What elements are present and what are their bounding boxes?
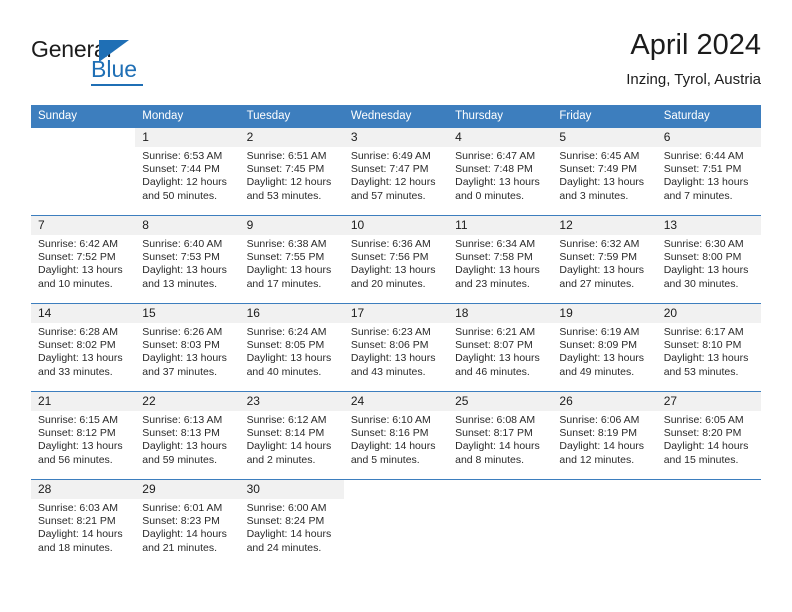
day-number: 12 (552, 216, 656, 235)
day-cell-content (31, 128, 135, 215)
sunrise-text: Sunrise: 6:42 AM (38, 238, 129, 251)
day-details: Sunrise: 6:47 AM Sunset: 7:48 PM Dayligh… (448, 147, 552, 203)
sunset-text: Sunset: 7:52 PM (38, 251, 129, 264)
day-number (344, 480, 448, 499)
daylight-text-line2: and 53 minutes. (664, 366, 755, 379)
calendar-day-cell[interactable]: 6 Sunrise: 6:44 AM Sunset: 7:51 PM Dayli… (657, 128, 761, 216)
sunset-text: Sunset: 8:24 PM (247, 515, 338, 528)
day-number: 8 (135, 216, 239, 235)
day-number: 26 (552, 392, 656, 411)
day-cell-content: 20 Sunrise: 6:17 AM Sunset: 8:10 PM Dayl… (657, 304, 761, 391)
daylight-text-line2: and 5 minutes. (351, 454, 442, 467)
day-number: 22 (135, 392, 239, 411)
daylight-text-line1: Daylight: 13 hours (247, 264, 338, 277)
sunrise-text: Sunrise: 6:00 AM (247, 502, 338, 515)
calendar-day-cell[interactable]: 1 Sunrise: 6:53 AM Sunset: 7:44 PM Dayli… (135, 128, 239, 216)
sunrise-text: Sunrise: 6:51 AM (247, 150, 338, 163)
sunrise-text: Sunrise: 6:03 AM (38, 502, 129, 515)
day-number: 6 (657, 128, 761, 147)
day-cell-content: 8 Sunrise: 6:40 AM Sunset: 7:53 PM Dayli… (135, 216, 239, 303)
sunset-text: Sunset: 7:55 PM (247, 251, 338, 264)
daylight-text-line2: and 0 minutes. (455, 190, 546, 203)
day-cell-content: 12 Sunrise: 6:32 AM Sunset: 7:59 PM Dayl… (552, 216, 656, 303)
day-details: Sunrise: 6:03 AM Sunset: 8:21 PM Dayligh… (31, 499, 135, 555)
daylight-text-line2: and 15 minutes. (664, 454, 755, 467)
daylight-text-line2: and 59 minutes. (142, 454, 233, 467)
calendar-day-cell[interactable] (344, 480, 448, 575)
day-cell-content: 30 Sunrise: 6:00 AM Sunset: 8:24 PM Dayl… (240, 480, 344, 575)
day-number: 28 (31, 480, 135, 499)
day-cell-content: 7 Sunrise: 6:42 AM Sunset: 7:52 PM Dayli… (31, 216, 135, 303)
sunrise-text: Sunrise: 6:01 AM (142, 502, 233, 515)
daylight-text-line2: and 23 minutes. (455, 278, 546, 291)
calendar-day-cell[interactable]: 20 Sunrise: 6:17 AM Sunset: 8:10 PM Dayl… (657, 304, 761, 392)
daylight-text-line1: Daylight: 14 hours (247, 528, 338, 541)
day-cell-content (552, 480, 656, 575)
daylight-text-line1: Daylight: 13 hours (664, 264, 755, 277)
sunrise-text: Sunrise: 6:36 AM (351, 238, 442, 251)
weekday-header-wednesday: Wednesday (344, 105, 448, 128)
day-cell-content: 13 Sunrise: 6:30 AM Sunset: 8:00 PM Dayl… (657, 216, 761, 303)
weekday-header-sunday: Sunday (31, 105, 135, 128)
day-number: 30 (240, 480, 344, 499)
sunrise-text: Sunrise: 6:13 AM (142, 414, 233, 427)
daylight-text-line2: and 10 minutes. (38, 278, 129, 291)
sunset-text: Sunset: 8:05 PM (247, 339, 338, 352)
calendar-day-cell[interactable]: 14 Sunrise: 6:28 AM Sunset: 8:02 PM Dayl… (31, 304, 135, 392)
day-cell-content: 2 Sunrise: 6:51 AM Sunset: 7:45 PM Dayli… (240, 128, 344, 215)
daylight-text-line2: and 56 minutes. (38, 454, 129, 467)
calendar-day-cell[interactable] (31, 128, 135, 216)
calendar-day-cell[interactable]: 15 Sunrise: 6:26 AM Sunset: 8:03 PM Dayl… (135, 304, 239, 392)
daylight-text-line1: Daylight: 14 hours (559, 440, 650, 453)
sunrise-text: Sunrise: 6:06 AM (559, 414, 650, 427)
daylight-text-line2: and 33 minutes. (38, 366, 129, 379)
sunrise-text: Sunrise: 6:21 AM (455, 326, 546, 339)
day-cell-content: 22 Sunrise: 6:13 AM Sunset: 8:13 PM Dayl… (135, 392, 239, 479)
daylight-text-line2: and 8 minutes. (455, 454, 546, 467)
day-cell-content: 23 Sunrise: 6:12 AM Sunset: 8:14 PM Dayl… (240, 392, 344, 479)
calendar-day-cell[interactable]: 28 Sunrise: 6:03 AM Sunset: 8:21 PM Dayl… (31, 480, 135, 575)
daylight-text-line1: Daylight: 13 hours (559, 176, 650, 189)
daylight-text-line1: Daylight: 13 hours (351, 352, 442, 365)
calendar-day-cell[interactable]: 25 Sunrise: 6:08 AM Sunset: 8:17 PM Dayl… (448, 392, 552, 480)
day-details: Sunrise: 6:06 AM Sunset: 8:19 PM Dayligh… (552, 411, 656, 467)
calendar-day-cell[interactable]: 27 Sunrise: 6:05 AM Sunset: 8:20 PM Dayl… (657, 392, 761, 480)
daylight-text-line1: Daylight: 12 hours (142, 176, 233, 189)
daylight-text-line2: and 2 minutes. (247, 454, 338, 467)
calendar-day-cell[interactable]: 29 Sunrise: 6:01 AM Sunset: 8:23 PM Dayl… (135, 480, 239, 575)
day-details: Sunrise: 6:15 AM Sunset: 8:12 PM Dayligh… (31, 411, 135, 467)
sunrise-text: Sunrise: 6:49 AM (351, 150, 442, 163)
daylight-text-line2: and 43 minutes. (351, 366, 442, 379)
daylight-text-line2: and 27 minutes. (559, 278, 650, 291)
day-details: Sunrise: 6:30 AM Sunset: 8:00 PM Dayligh… (657, 235, 761, 291)
sunrise-text: Sunrise: 6:32 AM (559, 238, 650, 251)
calendar-grid: Sunday Monday Tuesday Wednesday Thursday… (31, 105, 761, 575)
sunset-text: Sunset: 7:44 PM (142, 163, 233, 176)
daylight-text-line2: and 24 minutes. (247, 542, 338, 555)
sunrise-text: Sunrise: 6:45 AM (559, 150, 650, 163)
page-header: General Blue April 2024 Inzing, Tyrol, A… (31, 28, 761, 100)
calendar-day-cell[interactable]: 17 Sunrise: 6:23 AM Sunset: 8:06 PM Dayl… (344, 304, 448, 392)
sunset-text: Sunset: 8:20 PM (664, 427, 755, 440)
day-number: 18 (448, 304, 552, 323)
sunset-text: Sunset: 8:07 PM (455, 339, 546, 352)
calendar-page: General Blue April 2024 Inzing, Tyrol, A… (0, 0, 792, 612)
sunrise-text: Sunrise: 6:10 AM (351, 414, 442, 427)
day-details: Sunrise: 6:10 AM Sunset: 8:16 PM Dayligh… (344, 411, 448, 467)
day-details (657, 499, 761, 502)
sunrise-text: Sunrise: 6:38 AM (247, 238, 338, 251)
daylight-text-line2: and 12 minutes. (559, 454, 650, 467)
day-number: 27 (657, 392, 761, 411)
day-cell-content: 14 Sunrise: 6:28 AM Sunset: 8:02 PM Dayl… (31, 304, 135, 391)
day-cell-content: 18 Sunrise: 6:21 AM Sunset: 8:07 PM Dayl… (448, 304, 552, 391)
sunrise-text: Sunrise: 6:08 AM (455, 414, 546, 427)
day-details: Sunrise: 6:36 AM Sunset: 7:56 PM Dayligh… (344, 235, 448, 291)
calendar-day-cell[interactable]: 18 Sunrise: 6:21 AM Sunset: 8:07 PM Dayl… (448, 304, 552, 392)
daylight-text-line1: Daylight: 14 hours (455, 440, 546, 453)
day-number: 7 (31, 216, 135, 235)
day-number: 21 (31, 392, 135, 411)
calendar-day-cell[interactable]: 5 Sunrise: 6:45 AM Sunset: 7:49 PM Dayli… (552, 128, 656, 216)
day-details: Sunrise: 6:08 AM Sunset: 8:17 PM Dayligh… (448, 411, 552, 467)
day-details: Sunrise: 6:28 AM Sunset: 8:02 PM Dayligh… (31, 323, 135, 379)
day-cell-content: 17 Sunrise: 6:23 AM Sunset: 8:06 PM Dayl… (344, 304, 448, 391)
weekday-header-friday: Friday (552, 105, 656, 128)
day-cell-content: 24 Sunrise: 6:10 AM Sunset: 8:16 PM Dayl… (344, 392, 448, 479)
day-number: 29 (135, 480, 239, 499)
calendar-day-cell[interactable]: 3 Sunrise: 6:49 AM Sunset: 7:47 PM Dayli… (344, 128, 448, 216)
day-details: Sunrise: 6:42 AM Sunset: 7:52 PM Dayligh… (31, 235, 135, 291)
day-details: Sunrise: 6:23 AM Sunset: 8:06 PM Dayligh… (344, 323, 448, 379)
daylight-text-line1: Daylight: 13 hours (559, 264, 650, 277)
day-details: Sunrise: 6:38 AM Sunset: 7:55 PM Dayligh… (240, 235, 344, 291)
day-number (448, 480, 552, 499)
day-details: Sunrise: 6:19 AM Sunset: 8:09 PM Dayligh… (552, 323, 656, 379)
day-details: Sunrise: 6:12 AM Sunset: 8:14 PM Dayligh… (240, 411, 344, 467)
calendar-day-cell[interactable]: 19 Sunrise: 6:19 AM Sunset: 8:09 PM Dayl… (552, 304, 656, 392)
day-number (31, 128, 135, 147)
calendar-day-cell[interactable]: 7 Sunrise: 6:42 AM Sunset: 7:52 PM Dayli… (31, 216, 135, 304)
sunset-text: Sunset: 8:21 PM (38, 515, 129, 528)
day-cell-content: 3 Sunrise: 6:49 AM Sunset: 7:47 PM Dayli… (344, 128, 448, 215)
day-details: Sunrise: 6:53 AM Sunset: 7:44 PM Dayligh… (135, 147, 239, 203)
page-subtitle: Inzing, Tyrol, Austria (626, 69, 761, 91)
sunrise-text: Sunrise: 6:15 AM (38, 414, 129, 427)
day-number: 16 (240, 304, 344, 323)
sunset-text: Sunset: 8:09 PM (559, 339, 650, 352)
day-cell-content: 15 Sunrise: 6:26 AM Sunset: 8:03 PM Dayl… (135, 304, 239, 391)
sunrise-text: Sunrise: 6:30 AM (664, 238, 755, 251)
daylight-text-line1: Daylight: 13 hours (455, 352, 546, 365)
daylight-text-line1: Daylight: 12 hours (247, 176, 338, 189)
calendar-body: 1 Sunrise: 6:53 AM Sunset: 7:44 PM Dayli… (31, 128, 761, 575)
day-number (657, 480, 761, 499)
weekday-header-saturday: Saturday (657, 105, 761, 128)
weekday-header-tuesday: Tuesday (240, 105, 344, 128)
sunset-text: Sunset: 7:56 PM (351, 251, 442, 264)
sunset-text: Sunset: 7:49 PM (559, 163, 650, 176)
daylight-text-line1: Daylight: 14 hours (142, 528, 233, 541)
day-details (31, 147, 135, 150)
day-details: Sunrise: 6:00 AM Sunset: 8:24 PM Dayligh… (240, 499, 344, 555)
day-details (448, 499, 552, 502)
day-details (552, 499, 656, 502)
weekday-header-thursday: Thursday (448, 105, 552, 128)
sunrise-text: Sunrise: 6:53 AM (142, 150, 233, 163)
sunset-text: Sunset: 8:14 PM (247, 427, 338, 440)
day-details: Sunrise: 6:05 AM Sunset: 8:20 PM Dayligh… (657, 411, 761, 467)
daylight-text-line1: Daylight: 13 hours (664, 352, 755, 365)
day-details: Sunrise: 6:51 AM Sunset: 7:45 PM Dayligh… (240, 147, 344, 203)
logo-underline (91, 84, 143, 86)
daylight-text-line2: and 50 minutes. (142, 190, 233, 203)
calendar-day-cell[interactable]: 8 Sunrise: 6:40 AM Sunset: 7:53 PM Dayli… (135, 216, 239, 304)
daylight-text-line1: Daylight: 13 hours (38, 264, 129, 277)
daylight-text-line1: Daylight: 13 hours (142, 264, 233, 277)
daylight-text-line2: and 17 minutes. (247, 278, 338, 291)
day-cell-content: 9 Sunrise: 6:38 AM Sunset: 7:55 PM Dayli… (240, 216, 344, 303)
calendar-day-cell[interactable] (552, 480, 656, 575)
calendar-day-cell[interactable]: 10 Sunrise: 6:36 AM Sunset: 7:56 PM Dayl… (344, 216, 448, 304)
sunset-text: Sunset: 8:06 PM (351, 339, 442, 352)
calendar-day-cell[interactable] (448, 480, 552, 575)
calendar-week-row: 21 Sunrise: 6:15 AM Sunset: 8:12 PM Dayl… (31, 392, 761, 480)
day-number: 10 (344, 216, 448, 235)
daylight-text-line2: and 7 minutes. (664, 190, 755, 203)
day-details: Sunrise: 6:21 AM Sunset: 8:07 PM Dayligh… (448, 323, 552, 379)
day-cell-content: 11 Sunrise: 6:34 AM Sunset: 7:58 PM Dayl… (448, 216, 552, 303)
sunrise-text: Sunrise: 6:26 AM (142, 326, 233, 339)
daylight-text-line2: and 3 minutes. (559, 190, 650, 203)
calendar-day-cell[interactable]: 21 Sunrise: 6:15 AM Sunset: 8:12 PM Dayl… (31, 392, 135, 480)
daylight-text-line1: Daylight: 12 hours (351, 176, 442, 189)
day-cell-content (657, 480, 761, 575)
day-details: Sunrise: 6:26 AM Sunset: 8:03 PM Dayligh… (135, 323, 239, 379)
day-details: Sunrise: 6:24 AM Sunset: 8:05 PM Dayligh… (240, 323, 344, 379)
calendar-day-cell[interactable]: 30 Sunrise: 6:00 AM Sunset: 8:24 PM Dayl… (240, 480, 344, 575)
sunset-text: Sunset: 8:16 PM (351, 427, 442, 440)
daylight-text-line1: Daylight: 13 hours (351, 264, 442, 277)
calendar-day-cell[interactable]: 12 Sunrise: 6:32 AM Sunset: 7:59 PM Dayl… (552, 216, 656, 304)
calendar-day-cell[interactable] (657, 480, 761, 575)
daylight-text-line2: and 20 minutes. (351, 278, 442, 291)
daylight-text-line2: and 57 minutes. (351, 190, 442, 203)
page-title: April 2024 (626, 28, 761, 62)
title-block: April 2024 Inzing, Tyrol, Austria (626, 28, 761, 91)
day-number: 15 (135, 304, 239, 323)
calendar-week-row: 28 Sunrise: 6:03 AM Sunset: 8:21 PM Dayl… (31, 480, 761, 575)
day-cell-content: 16 Sunrise: 6:24 AM Sunset: 8:05 PM Dayl… (240, 304, 344, 391)
day-cell-content: 4 Sunrise: 6:47 AM Sunset: 7:48 PM Dayli… (448, 128, 552, 215)
day-number: 24 (344, 392, 448, 411)
daylight-text-line2: and 46 minutes. (455, 366, 546, 379)
daylight-text-line2: and 21 minutes. (142, 542, 233, 555)
daylight-text-line1: Daylight: 14 hours (664, 440, 755, 453)
daylight-text-line1: Daylight: 13 hours (142, 440, 233, 453)
calendar-week-row: 14 Sunrise: 6:28 AM Sunset: 8:02 PM Dayl… (31, 304, 761, 392)
calendar-day-cell[interactable]: 2 Sunrise: 6:51 AM Sunset: 7:45 PM Dayli… (240, 128, 344, 216)
day-number: 2 (240, 128, 344, 147)
day-details: Sunrise: 6:32 AM Sunset: 7:59 PM Dayligh… (552, 235, 656, 291)
sunset-text: Sunset: 8:19 PM (559, 427, 650, 440)
day-cell-content: 10 Sunrise: 6:36 AM Sunset: 7:56 PM Dayl… (344, 216, 448, 303)
day-details: Sunrise: 6:34 AM Sunset: 7:58 PM Dayligh… (448, 235, 552, 291)
sunrise-text: Sunrise: 6:05 AM (664, 414, 755, 427)
calendar-day-cell[interactable]: 11 Sunrise: 6:34 AM Sunset: 7:58 PM Dayl… (448, 216, 552, 304)
sunset-text: Sunset: 8:02 PM (38, 339, 129, 352)
sunset-text: Sunset: 8:10 PM (664, 339, 755, 352)
calendar-day-cell[interactable]: 16 Sunrise: 6:24 AM Sunset: 8:05 PM Dayl… (240, 304, 344, 392)
day-cell-content: 27 Sunrise: 6:05 AM Sunset: 8:20 PM Dayl… (657, 392, 761, 479)
sunset-text: Sunset: 8:12 PM (38, 427, 129, 440)
sunset-text: Sunset: 7:58 PM (455, 251, 546, 264)
logo-text-blue: Blue (91, 56, 137, 83)
day-number (552, 480, 656, 499)
daylight-text-line1: Daylight: 14 hours (38, 528, 129, 541)
day-number: 13 (657, 216, 761, 235)
day-number: 14 (31, 304, 135, 323)
daylight-text-line2: and 37 minutes. (142, 366, 233, 379)
day-details: Sunrise: 6:01 AM Sunset: 8:23 PM Dayligh… (135, 499, 239, 555)
daylight-text-line2: and 53 minutes. (247, 190, 338, 203)
daylight-text-line1: Daylight: 13 hours (38, 440, 129, 453)
day-number: 5 (552, 128, 656, 147)
weekday-header-monday: Monday (135, 105, 239, 128)
day-details: Sunrise: 6:13 AM Sunset: 8:13 PM Dayligh… (135, 411, 239, 467)
sunrise-text: Sunrise: 6:23 AM (351, 326, 442, 339)
daylight-text-line1: Daylight: 13 hours (142, 352, 233, 365)
calendar-table: Sunday Monday Tuesday Wednesday Thursday… (31, 105, 761, 575)
day-cell-content: 21 Sunrise: 6:15 AM Sunset: 8:12 PM Dayl… (31, 392, 135, 479)
calendar-day-cell[interactable]: 26 Sunrise: 6:06 AM Sunset: 8:19 PM Dayl… (552, 392, 656, 480)
daylight-text-line2: and 13 minutes. (142, 278, 233, 291)
daylight-text-line1: Daylight: 13 hours (455, 176, 546, 189)
day-cell-content: 26 Sunrise: 6:06 AM Sunset: 8:19 PM Dayl… (552, 392, 656, 479)
day-details: Sunrise: 6:40 AM Sunset: 7:53 PM Dayligh… (135, 235, 239, 291)
calendar-day-cell[interactable]: 9 Sunrise: 6:38 AM Sunset: 7:55 PM Dayli… (240, 216, 344, 304)
sunset-text: Sunset: 7:45 PM (247, 163, 338, 176)
daylight-text-line2: and 30 minutes. (664, 278, 755, 291)
daylight-text-line1: Daylight: 13 hours (664, 176, 755, 189)
daylight-text-line1: Daylight: 14 hours (247, 440, 338, 453)
day-cell-content: 6 Sunrise: 6:44 AM Sunset: 7:51 PM Dayli… (657, 128, 761, 215)
day-details: Sunrise: 6:45 AM Sunset: 7:49 PM Dayligh… (552, 147, 656, 203)
day-cell-content (344, 480, 448, 575)
calendar-day-cell[interactable]: 4 Sunrise: 6:47 AM Sunset: 7:48 PM Dayli… (448, 128, 552, 216)
day-number: 9 (240, 216, 344, 235)
daylight-text-line1: Daylight: 13 hours (38, 352, 129, 365)
day-details: Sunrise: 6:44 AM Sunset: 7:51 PM Dayligh… (657, 147, 761, 203)
sunset-text: Sunset: 8:17 PM (455, 427, 546, 440)
sunrise-text: Sunrise: 6:44 AM (664, 150, 755, 163)
day-cell-content: 19 Sunrise: 6:19 AM Sunset: 8:09 PM Dayl… (552, 304, 656, 391)
daylight-text-line1: Daylight: 13 hours (247, 352, 338, 365)
sunrise-text: Sunrise: 6:34 AM (455, 238, 546, 251)
day-number: 4 (448, 128, 552, 147)
day-cell-content: 25 Sunrise: 6:08 AM Sunset: 8:17 PM Dayl… (448, 392, 552, 479)
day-number: 11 (448, 216, 552, 235)
day-details (344, 499, 448, 502)
sunrise-text: Sunrise: 6:17 AM (664, 326, 755, 339)
sunset-text: Sunset: 7:47 PM (351, 163, 442, 176)
daylight-text-line1: Daylight: 13 hours (455, 264, 546, 277)
daylight-text-line2: and 40 minutes. (247, 366, 338, 379)
daylight-text-line2: and 49 minutes. (559, 366, 650, 379)
sunset-text: Sunset: 7:53 PM (142, 251, 233, 264)
daylight-text-line1: Daylight: 14 hours (351, 440, 442, 453)
day-cell-content: 1 Sunrise: 6:53 AM Sunset: 7:44 PM Dayli… (135, 128, 239, 215)
sunset-text: Sunset: 8:13 PM (142, 427, 233, 440)
day-number: 17 (344, 304, 448, 323)
calendar-week-row: 1 Sunrise: 6:53 AM Sunset: 7:44 PM Dayli… (31, 128, 761, 216)
calendar-day-cell[interactable]: 23 Sunrise: 6:12 AM Sunset: 8:14 PM Dayl… (240, 392, 344, 480)
day-number: 20 (657, 304, 761, 323)
calendar-day-cell[interactable]: 22 Sunrise: 6:13 AM Sunset: 8:13 PM Dayl… (135, 392, 239, 480)
day-cell-content: 29 Sunrise: 6:01 AM Sunset: 8:23 PM Dayl… (135, 480, 239, 575)
sunset-text: Sunset: 8:00 PM (664, 251, 755, 264)
day-number: 23 (240, 392, 344, 411)
day-cell-content: 28 Sunrise: 6:03 AM Sunset: 8:21 PM Dayl… (31, 480, 135, 575)
day-details: Sunrise: 6:17 AM Sunset: 8:10 PM Dayligh… (657, 323, 761, 379)
sunrise-text: Sunrise: 6:19 AM (559, 326, 650, 339)
day-details: Sunrise: 6:49 AM Sunset: 7:47 PM Dayligh… (344, 147, 448, 203)
sunrise-text: Sunrise: 6:12 AM (247, 414, 338, 427)
calendar-header-row: Sunday Monday Tuesday Wednesday Thursday… (31, 105, 761, 128)
general-blue-logo[interactable]: General Blue (31, 36, 211, 92)
calendar-day-cell[interactable]: 13 Sunrise: 6:30 AM Sunset: 8:00 PM Dayl… (657, 216, 761, 304)
day-number: 25 (448, 392, 552, 411)
sunset-text: Sunset: 7:59 PM (559, 251, 650, 264)
calendar-day-cell[interactable]: 24 Sunrise: 6:10 AM Sunset: 8:16 PM Dayl… (344, 392, 448, 480)
daylight-text-line2: and 18 minutes. (38, 542, 129, 555)
sunset-text: Sunset: 8:23 PM (142, 515, 233, 528)
sunrise-text: Sunrise: 6:40 AM (142, 238, 233, 251)
sunrise-text: Sunrise: 6:28 AM (38, 326, 129, 339)
sunset-text: Sunset: 8:03 PM (142, 339, 233, 352)
daylight-text-line1: Daylight: 13 hours (559, 352, 650, 365)
day-number: 3 (344, 128, 448, 147)
sunset-text: Sunset: 7:48 PM (455, 163, 546, 176)
day-cell-content (448, 480, 552, 575)
day-number: 1 (135, 128, 239, 147)
sunrise-text: Sunrise: 6:24 AM (247, 326, 338, 339)
calendar-week-row: 7 Sunrise: 6:42 AM Sunset: 7:52 PM Dayli… (31, 216, 761, 304)
sunrise-text: Sunrise: 6:47 AM (455, 150, 546, 163)
day-number: 19 (552, 304, 656, 323)
day-cell-content: 5 Sunrise: 6:45 AM Sunset: 7:49 PM Dayli… (552, 128, 656, 215)
sunset-text: Sunset: 7:51 PM (664, 163, 755, 176)
